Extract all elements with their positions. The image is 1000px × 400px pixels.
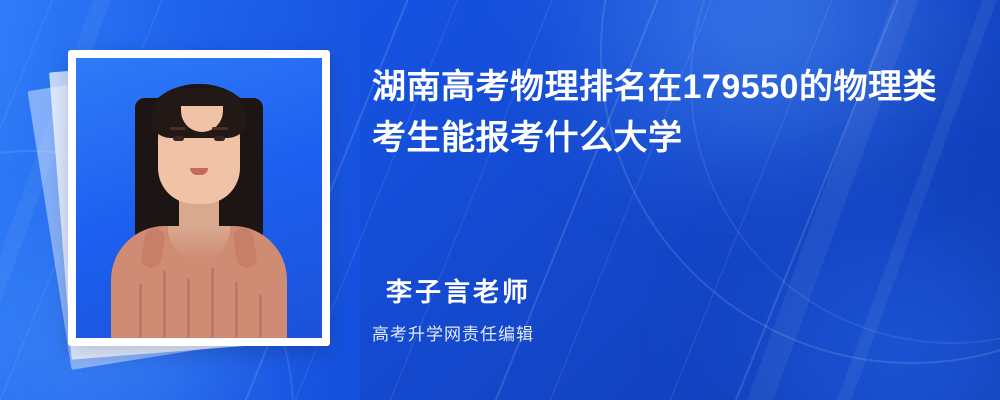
portrait-strap-left [140, 227, 167, 270]
portrait-eye-left [173, 136, 184, 141]
page-title: 湖南高考物理排名在179550的物理类考生能报考什么大学 [372, 62, 968, 164]
author-portrait-photo [76, 58, 322, 338]
photo-stack [46, 36, 346, 366]
headline-block: 湖南高考物理排名在179550的物理类考生能报考什么大学 [372, 62, 968, 164]
portrait-strap-right [232, 227, 259, 270]
portrait-brow-right [212, 127, 228, 130]
portrait-fringe [151, 88, 247, 138]
portrait-dress [111, 226, 287, 338]
portrait-dress-fold [163, 270, 166, 338]
banner-image: 湖南高考物理排名在179550的物理类考生能报考什么大学 李子言老师 高考升学网… [0, 0, 1000, 400]
portrait-dress-fold [235, 282, 238, 338]
author-role: 高考升学网责任编辑 [372, 320, 534, 345]
portrait-dress-fold [211, 268, 214, 338]
portrait-dress-fold [259, 294, 262, 338]
portrait-brow-left [170, 127, 186, 130]
portrait-dress-fold [139, 284, 142, 338]
portrait-eye-right [214, 136, 225, 141]
author-name: 李子言老师 [386, 272, 531, 309]
portrait-dress-fold [187, 278, 190, 338]
photo-card-front [68, 50, 330, 346]
